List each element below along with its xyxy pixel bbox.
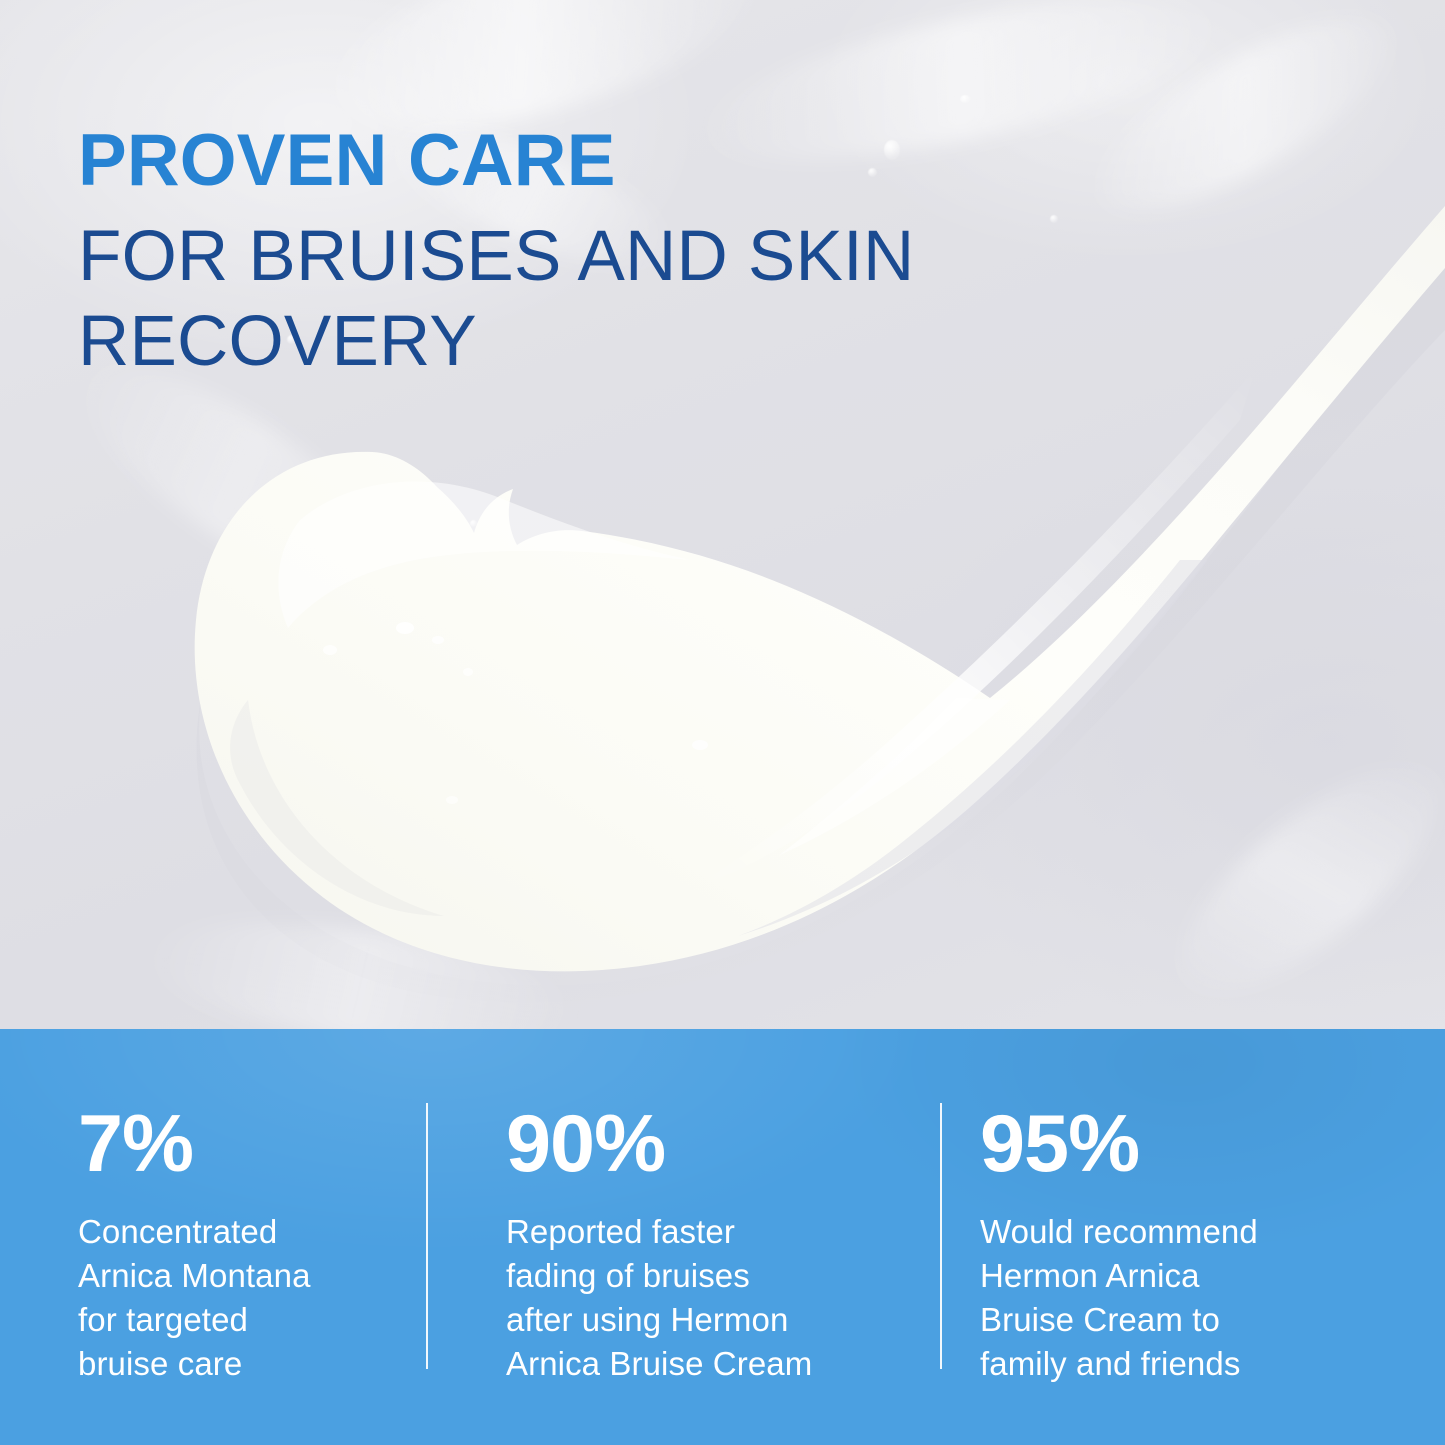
stat-value: 90%: [506, 1105, 910, 1184]
product-infographic-poster: PROVEN CARE FOR BRUISES AND SKIN RECOVER…: [0, 0, 1445, 1445]
stat-item-concentration: 7% Concentrated Arnica Montana for targe…: [0, 1105, 426, 1445]
headline-line-1: PROVEN CARE: [78, 124, 1208, 197]
stat-value: 95%: [980, 1105, 1415, 1184]
stats-row: 7% Concentrated Arnica Montana for targe…: [0, 1029, 1445, 1445]
stat-item-faster-fading: 90% Reported faster fading of bruises af…: [426, 1105, 940, 1445]
headline-line-2: FOR BRUISES AND SKIN: [78, 221, 1208, 292]
stat-divider: [426, 1103, 428, 1369]
stat-value: 7%: [78, 1105, 390, 1184]
stat-description: Reported faster fading of bruises after …: [506, 1210, 910, 1386]
stats-panel: 7% Concentrated Arnica Montana for targe…: [0, 1029, 1445, 1445]
headline-line-3: RECOVERY: [78, 306, 1208, 377]
stat-item-would-recommend: 95% Would recommend Hermon Arnica Bruise…: [940, 1105, 1445, 1445]
stat-description: Concentrated Arnica Montana for targeted…: [78, 1210, 390, 1386]
headline: PROVEN CARE FOR BRUISES AND SKIN RECOVER…: [78, 124, 1208, 377]
cream-swatch-photo: PROVEN CARE FOR BRUISES AND SKIN RECOVER…: [0, 0, 1445, 1029]
stat-divider: [940, 1103, 942, 1369]
stat-description: Would recommend Hermon Arnica Bruise Cre…: [980, 1210, 1415, 1386]
